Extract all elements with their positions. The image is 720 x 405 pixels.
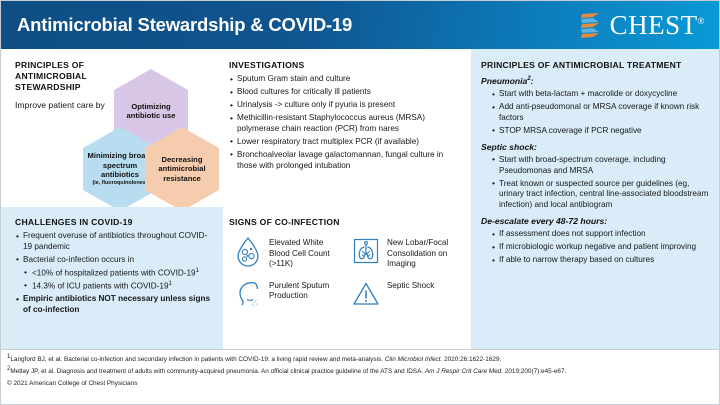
chest-spine-logo-icon bbox=[579, 11, 605, 39]
list-item: If microbiologic workup negative and pat… bbox=[491, 242, 711, 253]
treatment-list-pneumonia: Start with beta-lactam + macrolide or do… bbox=[491, 89, 711, 137]
list-item: Treat known or suspected source per guid… bbox=[491, 179, 711, 211]
list-item: Bronchoalveolar lavage galactomannan, fu… bbox=[229, 150, 463, 172]
sign-purulent-sputum: Purulent Sputum Production bbox=[233, 278, 345, 310]
list-item: <10% of hospitalized patients with COVID… bbox=[23, 268, 214, 280]
treatment-list-deescalate: If assessment does not support infection… bbox=[491, 229, 711, 266]
treatment-list-septic-shock: Start with broad-spectrum coverage, incl… bbox=[491, 155, 711, 211]
list-item: Urinalysis -> culture only if pyuria is … bbox=[229, 100, 463, 111]
signs-of-coinfection-panel: SIGNS OF CO-INFECTION bbox=[223, 207, 471, 349]
footnote-citation: 2020;26:1622-1629. bbox=[442, 356, 501, 363]
list-item: If able to narrow therapy based on cultu… bbox=[491, 255, 711, 266]
treatment-group-heading-deescalate: De-escalate every 48-72 hours: bbox=[481, 216, 711, 226]
page-title: Antimicrobial Stewardship & COVID-19 bbox=[17, 14, 352, 36]
challenges-panel: CHALLENGES IN COVID-19 Frequent overuse … bbox=[1, 207, 223, 349]
lungs-xray-icon bbox=[351, 235, 381, 267]
hexagon-label-note: (ie, fluoroquinolones) bbox=[87, 180, 153, 187]
warning-triangle-icon bbox=[351, 278, 381, 310]
sign-label: New Lobar/Focal Consolidation on Imaging bbox=[387, 235, 463, 270]
treatment-group-heading-septic-shock: Septic shock: bbox=[481, 142, 711, 152]
group-heading-label: Pneumonia bbox=[481, 76, 527, 86]
footnote-ref: 1 bbox=[169, 281, 172, 287]
chest-logo: CHEST® bbox=[579, 11, 705, 39]
list-item: Blood cultures for critically ill patien… bbox=[229, 87, 463, 98]
hexagon-label: Optimizing antibiotic use bbox=[114, 102, 188, 121]
treatment-title: PRINCIPLES OF ANTIMICROBIAL TREATMENT bbox=[481, 60, 711, 71]
head-sputum-icon bbox=[233, 278, 263, 310]
middle-column: INVESTIGATIONS Sputum Gram stain and cul… bbox=[223, 49, 471, 349]
sign-septic-shock: Septic Shock bbox=[351, 278, 463, 310]
list-item: If assessment does not support infection bbox=[491, 229, 711, 240]
footnote-citation: 2019;200(7):e45-e67. bbox=[503, 368, 566, 375]
footnote-journal: Am J Respir Crit Care Med. bbox=[425, 368, 503, 375]
coinfection-icon-grid: Elevated White Blood Cell Count (>11K) bbox=[229, 235, 463, 310]
footnote-text: Langford BJ, et al. Bacterial co-infecti… bbox=[10, 356, 384, 363]
investigations-title: INVESTIGATIONS bbox=[229, 60, 463, 71]
list-item: Start with beta-lactam + macrolide or do… bbox=[491, 89, 711, 100]
sign-label: Elevated White Blood Cell Count (>11K) bbox=[269, 235, 345, 270]
stewardship-hexagon-group: Optimizing antibiotic use Minimizing bro… bbox=[83, 69, 221, 201]
footnote-journal: Clin Microbiol Infect. bbox=[385, 356, 443, 363]
registered-mark: ® bbox=[698, 16, 705, 26]
footnote-ref: 1 bbox=[196, 268, 199, 274]
blood-drop-icon bbox=[233, 235, 263, 267]
principles-stewardship-panel: PRINCIPLES OF ANTIMICROBIAL STEWARDSHIP … bbox=[1, 49, 223, 207]
footnote-1: 1Langford BJ, et al. Bacterial co-infect… bbox=[7, 354, 713, 365]
hexagon-label: Decreasing antimicrobial resistance bbox=[145, 155, 219, 183]
right-column: PRINCIPLES OF ANTIMICROBIAL TREATMENT Pn… bbox=[471, 49, 719, 349]
list-item: Frequent overuse of antibiotics througho… bbox=[15, 231, 214, 253]
footnotes-section: 1Langford BJ, et al. Bacterial co-infect… bbox=[1, 349, 719, 404]
list-item: Bacterial co-infection occurs in <10% of… bbox=[15, 255, 214, 292]
treatment-group-heading-pneumonia: Pneumonia2: bbox=[481, 76, 711, 86]
treatment-panel: PRINCIPLES OF ANTIMICROBIAL TREATMENT Pn… bbox=[471, 49, 719, 349]
sign-label: Septic Shock bbox=[387, 278, 434, 292]
challenges-title: CHALLENGES IN COVID-19 bbox=[15, 217, 214, 228]
list-item-label: Bacterial co-infection occurs in bbox=[23, 255, 134, 264]
list-item-label: 14.3% of ICU patients with COVID-19 bbox=[32, 281, 169, 290]
group-heading-suffix: : bbox=[531, 76, 534, 86]
investigations-panel: INVESTIGATIONS Sputum Gram stain and cul… bbox=[223, 49, 471, 207]
page-header: Antimicrobial Stewardship & COVID-19 CHE… bbox=[1, 1, 719, 49]
list-item: Sputum Gram stain and culture bbox=[229, 74, 463, 85]
content-grid: PRINCIPLES OF ANTIMICROBIAL STEWARDSHIP … bbox=[1, 49, 719, 349]
hexagon-label-main: Minimizing broad-spectrum antibiotics bbox=[88, 151, 153, 179]
footnote-2: 2Metlay JP, et al. Diagnosis and treatme… bbox=[7, 366, 713, 377]
list-item: 14.3% of ICU patients with COVID-191 bbox=[23, 281, 214, 293]
copyright-notice: © 2021 American College of Chest Physici… bbox=[7, 380, 713, 387]
left-column: PRINCIPLES OF ANTIMICROBIAL STEWARDSHIP … bbox=[1, 49, 223, 349]
list-item: Lower respiratory tract multiplex PCR (i… bbox=[229, 137, 463, 148]
sign-elevated-wbc: Elevated White Blood Cell Count (>11K) bbox=[233, 235, 345, 270]
challenges-list: Frequent overuse of antibiotics througho… bbox=[15, 231, 214, 316]
infographic-page: Antimicrobial Stewardship & COVID-19 CHE… bbox=[0, 0, 720, 405]
list-item: Add anti-pseudomonal or MRSA coverage if… bbox=[491, 102, 711, 124]
list-item: Start with broad-spectrum coverage, incl… bbox=[491, 155, 711, 177]
chest-logo-text: CHEST® bbox=[610, 12, 705, 39]
footnote-text: Metlay JP, et al. Diagnosis and treatmen… bbox=[10, 368, 425, 375]
challenges-sublist: <10% of hospitalized patients with COVID… bbox=[23, 268, 214, 293]
sign-new-consolidation: New Lobar/Focal Consolidation on Imaging bbox=[351, 235, 463, 270]
coinfection-title: SIGNS OF CO-INFECTION bbox=[229, 217, 463, 228]
sign-label: Purulent Sputum Production bbox=[269, 278, 345, 302]
list-item: Methicillin-resistant Staphylococcus aur… bbox=[229, 113, 463, 135]
investigations-list: Sputum Gram stain and culture Blood cult… bbox=[229, 74, 463, 172]
list-item: STOP MRSA coverage if PCR negative bbox=[491, 126, 711, 137]
list-item-emphasis: Empiric antibiotics NOT necessary unless… bbox=[15, 294, 214, 316]
list-item-label: <10% of hospitalized patients with COVID… bbox=[32, 268, 196, 277]
